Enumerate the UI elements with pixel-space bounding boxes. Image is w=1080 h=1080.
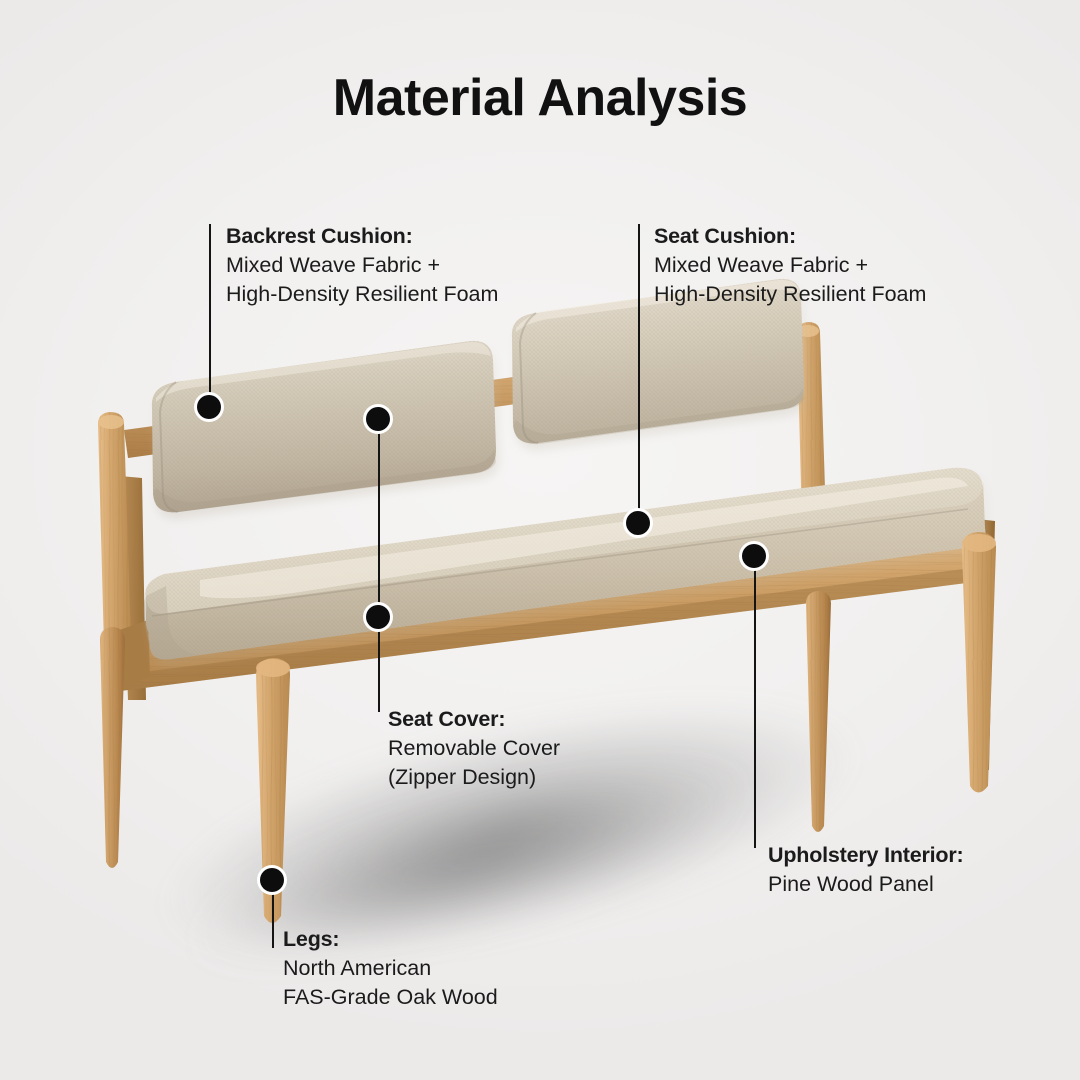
callout-heading: Upholstery Interior: bbox=[768, 841, 964, 870]
callout-label-seat-cushion: Seat Cushion: Mixed Weave Fabric + High-… bbox=[654, 222, 926, 309]
callout-line-1: Pine Wood Panel bbox=[768, 870, 964, 899]
callout-heading: Seat Cushion: bbox=[654, 222, 926, 251]
callout-line-1: Removable Cover bbox=[388, 734, 560, 763]
callout-line-2: High-Density Resilient Foam bbox=[654, 280, 926, 309]
leader-dot-seat-cover-seat[interactable] bbox=[366, 605, 390, 629]
callout-line-2: FAS-Grade Oak Wood bbox=[283, 983, 498, 1012]
leader-line-upholstery-interior bbox=[754, 560, 756, 848]
leader-dot-seat-cushion[interactable] bbox=[626, 511, 650, 535]
callout-label-legs: Legs: North American FAS-Grade Oak Wood bbox=[283, 925, 498, 1012]
callout-line-1: Mixed Weave Fabric + bbox=[654, 251, 926, 280]
callout-heading: Legs: bbox=[283, 925, 498, 954]
bench-svg bbox=[0, 0, 1080, 1080]
callout-label-upholstery-interior: Upholstery Interior: Pine Wood Panel bbox=[768, 841, 964, 899]
leader-line-seat-cushion bbox=[638, 224, 640, 518]
callout-line-1: North American bbox=[283, 954, 498, 983]
leader-dot-seat-cover-backrest[interactable] bbox=[366, 407, 390, 431]
leader-dot-upholstery-interior[interactable] bbox=[742, 544, 766, 568]
callout-line-2: High-Density Resilient Foam bbox=[226, 280, 498, 309]
callout-heading: Seat Cover: bbox=[388, 705, 560, 734]
leader-dot-backrest-cushion[interactable] bbox=[197, 395, 221, 419]
callout-line-1: Mixed Weave Fabric + bbox=[226, 251, 498, 280]
backrest-cushions bbox=[152, 279, 804, 513]
leader-line-seat-cover bbox=[378, 412, 380, 712]
leader-dot-legs[interactable] bbox=[260, 868, 284, 892]
leader-line-backrest-cushion bbox=[209, 224, 211, 402]
bench-illustration bbox=[0, 0, 1080, 1080]
leader-line-legs bbox=[272, 884, 274, 948]
callout-label-seat-cover: Seat Cover: Removable Cover (Zipper Desi… bbox=[388, 705, 560, 792]
callout-line-2: (Zipper Design) bbox=[388, 763, 560, 792]
callout-heading: Backrest Cushion: bbox=[226, 222, 498, 251]
infographic-canvas: Material Analysis bbox=[0, 0, 1080, 1080]
callout-label-backrest-cushion: Backrest Cushion: Mixed Weave Fabric + H… bbox=[226, 222, 498, 309]
